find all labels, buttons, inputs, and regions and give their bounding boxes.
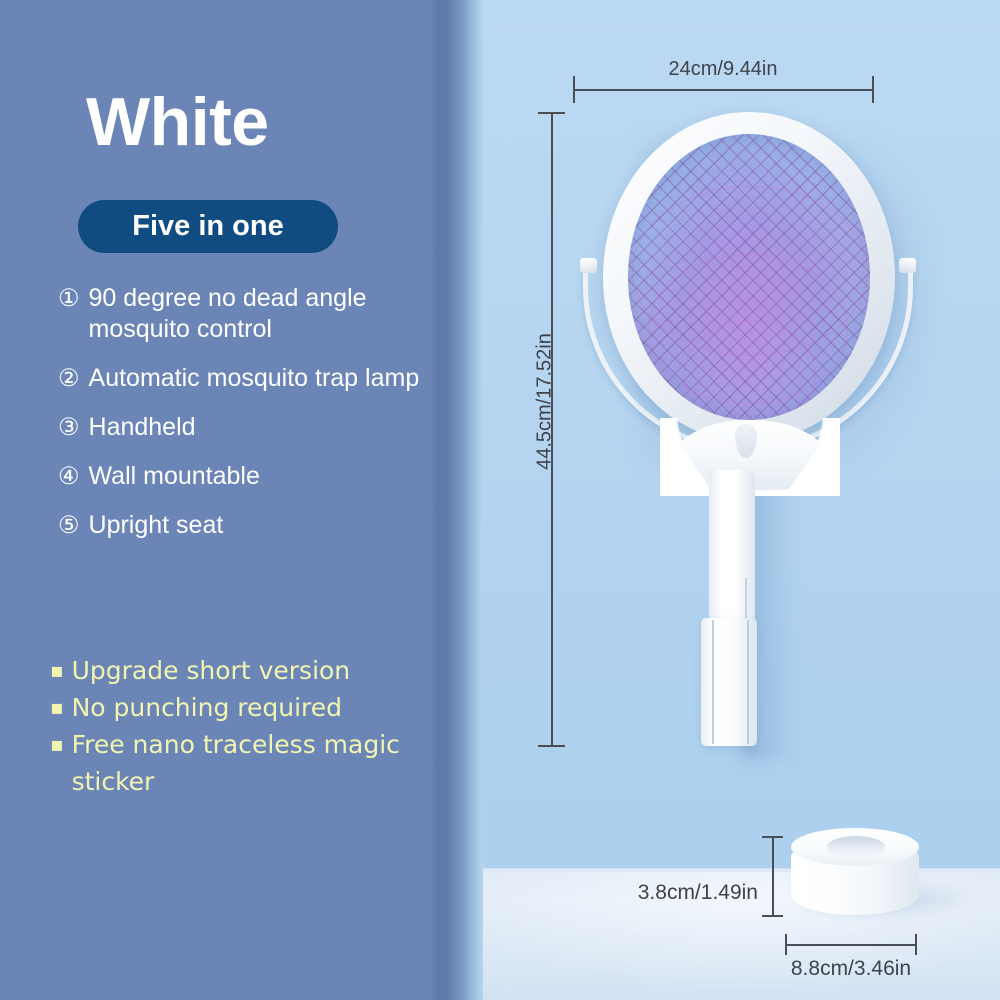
- grip-edge-line-right: [747, 620, 749, 744]
- bullet-item: ▪ Upgrade short version: [50, 652, 435, 689]
- sticker-height-dimension-line: [772, 836, 774, 916]
- feature-label: Automatic mosquito trap lamp: [89, 363, 420, 394]
- racket-height-dimension-label: 44.5cm/17.52in: [534, 312, 557, 492]
- bullet-label: Upgrade short version: [72, 652, 351, 689]
- sticker-height-tick-top: [762, 836, 783, 838]
- feature-number-icon: ⑤: [58, 510, 80, 541]
- feature-label: Wall mountable: [89, 461, 260, 492]
- racket-width-dimension-line: [573, 89, 873, 91]
- racket-uv-mesh-screen: [628, 134, 870, 420]
- feature-number-icon: ②: [58, 363, 80, 394]
- racket-height-tick-top: [538, 112, 565, 114]
- bracket-hinge-left: [580, 258, 597, 273]
- feature-label: Upright seat: [89, 510, 224, 541]
- feature-item: ② Automatic mosquito trap lamp: [58, 363, 428, 394]
- sticker-height-dimension-label: 3.8cm/1.49in: [600, 881, 758, 905]
- racket-height-dimension-line: [551, 112, 553, 746]
- bullet-square-icon: ▪: [50, 726, 64, 763]
- panel-edge-gradient: [437, 0, 483, 1000]
- feature-item: ⑤ Upright seat: [58, 510, 428, 541]
- grip-edge-line-left: [712, 620, 714, 744]
- feature-number-icon: ④: [58, 461, 80, 492]
- sticker-width-dimension-line: [785, 944, 916, 946]
- bullet-item: ▪ No punching required: [50, 689, 435, 726]
- bracket-hinge-right: [899, 258, 916, 273]
- racket-grip: [701, 618, 757, 746]
- uv-glow-arc: [684, 320, 816, 420]
- feature-item: ③ Handheld: [58, 412, 428, 443]
- feature-label: Handheld: [89, 412, 196, 443]
- bullet-label: No punching required: [72, 689, 342, 726]
- sticker-roll-center-hole: [827, 836, 885, 858]
- racket-width-tick-right: [872, 76, 874, 103]
- racket-width-dimension-label: 24cm/9.44in: [573, 58, 873, 81]
- sticker-width-tick-right: [915, 934, 917, 955]
- sticker-width-dimension-label: 8.8cm/3.46in: [760, 957, 942, 981]
- bullet-square-icon: ▪: [50, 689, 64, 726]
- page-title: White: [86, 88, 269, 156]
- product-infographic: 24cm/9.44in 44.5cm/17.52in 3.8cm/1.49in …: [0, 0, 1000, 1000]
- bullet-square-icon: ▪: [50, 652, 64, 689]
- bullet-label: Free nano traceless magic sticker: [72, 726, 435, 800]
- feature-label: 90 degree no dead angle mosquito control: [89, 283, 428, 345]
- feature-item: ④ Wall mountable: [58, 461, 428, 492]
- feature-number-icon: ①: [58, 283, 80, 314]
- badge-label: Five in one: [132, 210, 283, 243]
- bullet-list: ▪ Upgrade short version ▪ No punching re…: [50, 652, 435, 800]
- feature-number-icon: ③: [58, 412, 80, 443]
- sticker-width-tick-left: [785, 934, 787, 955]
- feature-list: ① 90 degree no dead angle mosquito contr…: [58, 283, 428, 559]
- bullet-item: ▪ Free nano traceless magic sticker: [50, 726, 435, 800]
- racket-height-tick-bottom: [538, 745, 565, 747]
- racket-width-tick-left: [573, 76, 575, 103]
- five-in-one-badge: Five in one: [78, 200, 338, 253]
- feature-item: ① 90 degree no dead angle mosquito contr…: [58, 283, 428, 345]
- sticker-height-tick-bottom: [762, 915, 783, 917]
